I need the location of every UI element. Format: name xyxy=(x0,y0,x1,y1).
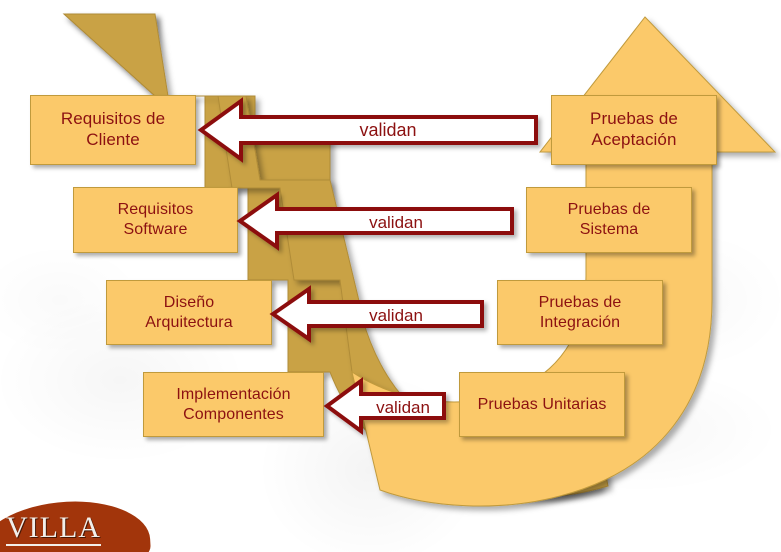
arrow-label-validan-4: validan xyxy=(376,398,430,417)
brand-text: VILLA xyxy=(6,513,101,546)
arrow-label-validan-2: validan xyxy=(369,213,423,232)
arrow-label-validan-1: validan xyxy=(359,120,416,140)
arrow-label-validan-3: validan xyxy=(369,306,423,325)
v-model-diagram-canvas: Requisitos de Cliente Requisitos Softwar… xyxy=(0,0,781,552)
validation-arrows: validan validan validan validan xyxy=(0,0,781,552)
